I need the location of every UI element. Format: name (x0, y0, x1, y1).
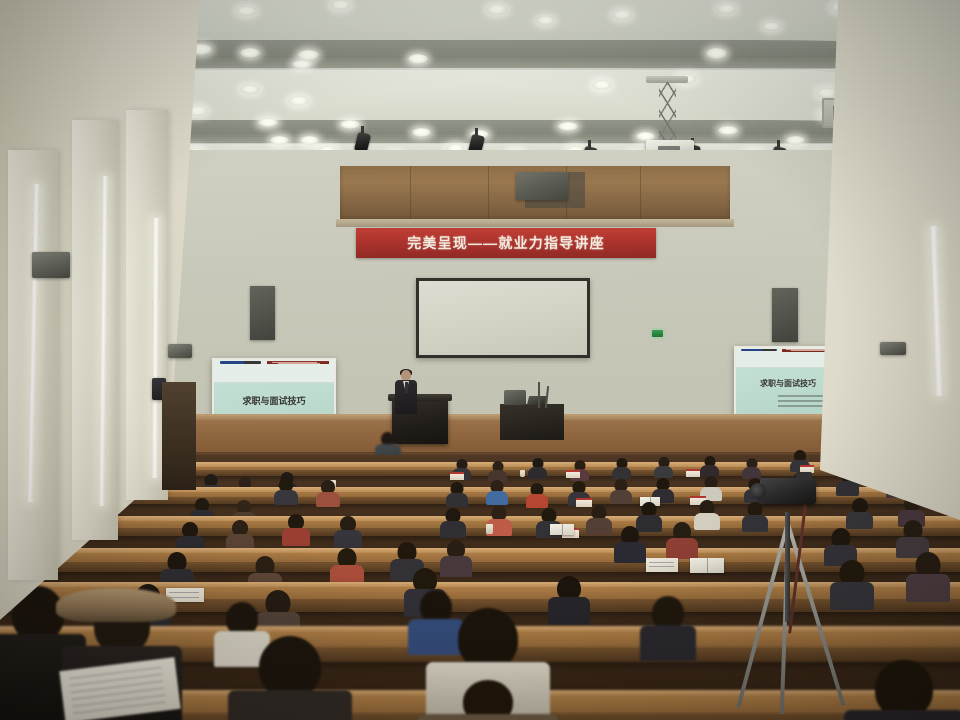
audience-member (282, 514, 310, 545)
ceiling-downlight (298, 50, 319, 60)
ceiling-downlight (270, 136, 289, 145)
name-card (566, 470, 580, 478)
audience-member (830, 560, 874, 610)
ceiling-downlight (292, 60, 312, 69)
lecture-hall-photograph: 完美呈现——就业力指导讲座 求职与面试技巧 求职与面试技巧 (0, 0, 960, 720)
audience-member (486, 480, 508, 504)
paper-cup (520, 470, 525, 477)
slide-logo (220, 361, 261, 364)
wall-speaker (168, 344, 192, 358)
ceiling-downlight (240, 85, 260, 94)
ceiling-downlight (236, 6, 257, 16)
ceiling-downlight (762, 22, 781, 31)
slide-logo (741, 349, 776, 351)
audience-member (440, 508, 466, 537)
ceiling-downlight (486, 4, 508, 15)
wall-speaker (772, 288, 798, 342)
audience-member (226, 520, 254, 551)
open-booklet (690, 558, 724, 573)
fur-hood-coat (56, 588, 176, 622)
slide-header-bar (267, 361, 329, 364)
audience-member (654, 457, 673, 477)
audience-member (316, 480, 340, 506)
audience-member (526, 483, 548, 507)
audience-member (610, 479, 632, 503)
audience-member (640, 596, 696, 660)
audience-member (334, 516, 362, 547)
slide-title: 求职与面试技巧 (214, 394, 334, 407)
camera-tripod (744, 500, 830, 714)
wall-speaker (250, 286, 275, 340)
ceiling-downlight (716, 4, 737, 14)
ceiling-downlight (300, 136, 319, 145)
audience-member (612, 458, 631, 478)
ceiling-downlight (408, 54, 428, 64)
audience-member (906, 552, 950, 602)
ceiling-downlight (612, 10, 632, 20)
handout-paper (646, 558, 678, 572)
ceiling-downlight (258, 118, 278, 127)
name-card (450, 472, 464, 480)
ceiling-downlight (536, 16, 555, 25)
open-booklet (550, 524, 574, 535)
camera-lens-icon (750, 483, 766, 499)
wall-speaker (516, 172, 568, 200)
side-doorway (162, 382, 196, 490)
ceiling-downlight (412, 128, 431, 137)
audience-member (274, 478, 298, 504)
audience-member (846, 498, 873, 528)
ceiling-downlight (558, 122, 578, 131)
wall-speaker (32, 252, 70, 278)
event-banner: 完美呈现——就业力指导讲座 (356, 228, 656, 258)
audience-member (528, 458, 547, 478)
microphone-stand (538, 382, 540, 408)
ceiling-downlight (340, 120, 360, 129)
ceiling-downlight (816, 88, 837, 98)
wall-speaker (880, 342, 906, 355)
ceiling-downlight (718, 126, 738, 135)
audience-member (228, 636, 352, 720)
ceiling-downlight (706, 48, 727, 59)
audience-member (844, 660, 960, 720)
paper-cup (486, 524, 493, 534)
banner-text: 完美呈现——就业力指导讲座 (407, 233, 605, 253)
audience-member (330, 548, 364, 586)
ceiling-downlight (786, 136, 805, 145)
audience-member (586, 505, 612, 534)
ceiling-downlight (240, 48, 260, 58)
video-camera (760, 478, 816, 504)
audience-member (548, 576, 590, 624)
ceiling-downlight (288, 96, 309, 106)
audience-member (742, 458, 761, 478)
proscenium-lip (336, 219, 734, 227)
audience-member (418, 680, 558, 720)
audience-member (666, 522, 698, 558)
presenter (395, 370, 417, 426)
wall-strip-light (151, 218, 159, 478)
audience-member (700, 456, 719, 476)
wall-pilaster (72, 120, 118, 540)
monitor-icon (504, 390, 526, 405)
audience-member (614, 526, 646, 562)
laptop-icon (527, 396, 547, 405)
ceiling-downlight (592, 80, 612, 90)
name-card (686, 469, 700, 477)
audience-member (446, 482, 468, 506)
main-projection-screen (416, 278, 590, 358)
audience-member (488, 461, 507, 481)
ceiling-downlight (330, 0, 351, 10)
av-control-table (500, 404, 564, 440)
exit-sign-icon (652, 330, 663, 337)
